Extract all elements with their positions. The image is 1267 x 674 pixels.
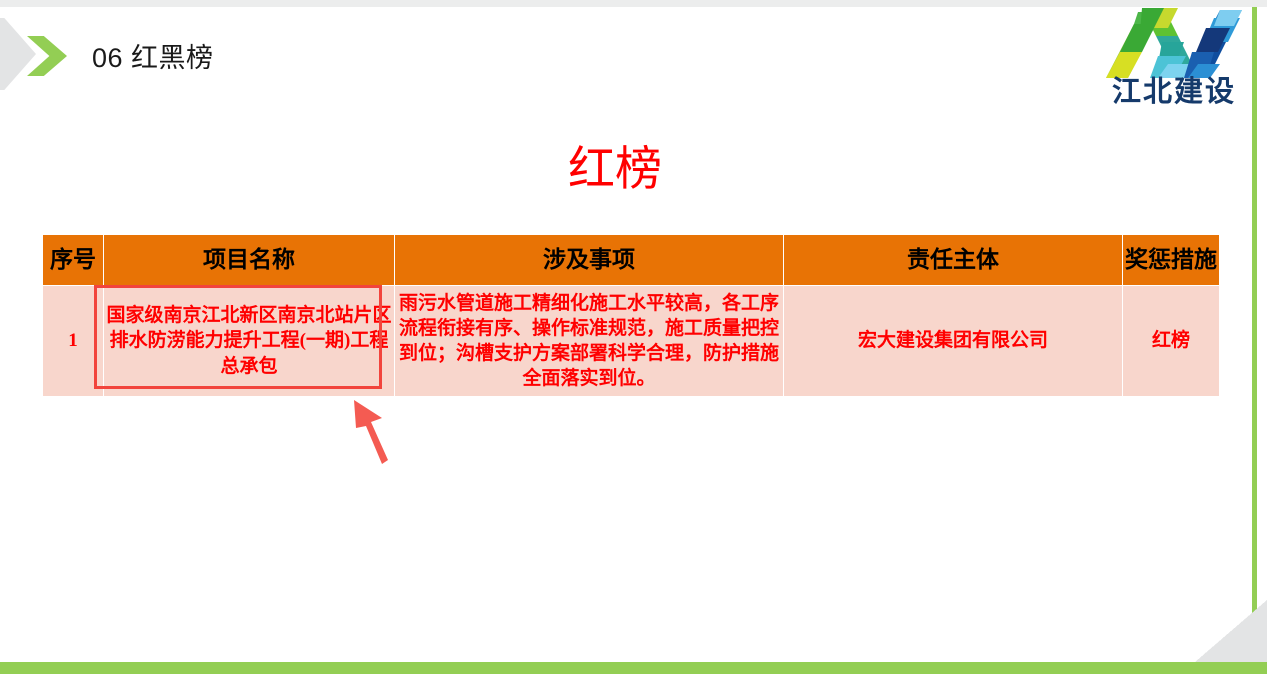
section-title: 06 红黑榜 [92, 36, 214, 75]
corner-gray-triangle [1195, 600, 1267, 662]
red-arrow-annotation-icon [352, 398, 432, 478]
table-header-row: 序号 项目名称 涉及事项 责任主体 奖惩措施 [43, 235, 1220, 286]
red-board-table: 序号 项目名称 涉及事项 责任主体 奖惩措施 1 国家级南京江北新区南京北站片区… [42, 234, 1220, 397]
column-header-matter: 涉及事项 [395, 235, 784, 286]
column-header-index: 序号 [43, 235, 104, 286]
bottom-green-bar [0, 662, 1267, 674]
chevron-right-gray-icon [0, 18, 36, 90]
logo-n-monogram-icon [1106, 8, 1242, 80]
slide-header: 06 红黑榜 [0, 0, 1267, 128]
cell-responsible-entity: 宏大建设集团有限公司 [784, 286, 1123, 397]
column-header-project-name: 项目名称 [104, 235, 395, 286]
cell-project-name: 国家级南京江北新区南京北站片区排水防涝能力提升工程(一期)工程总承包 [104, 286, 395, 397]
table-row: 1 国家级南京江北新区南京北站片区排水防涝能力提升工程(一期)工程总承包 雨污水… [43, 286, 1220, 397]
cell-matter: 雨污水管道施工精细化施工水平较高，各工序流程衔接有序、操作标准规范，施工质量把控… [395, 286, 784, 397]
logo-wordmark: 江北建设 [1098, 78, 1250, 107]
column-header-responsible-entity: 责任主体 [784, 235, 1123, 286]
company-logo: 江北建设 [1098, 8, 1250, 120]
board-table-wrapper: 序号 项目名称 涉及事项 责任主体 奖惩措施 1 国家级南京江北新区南京北站片区… [42, 234, 1214, 397]
cell-index: 1 [43, 286, 104, 397]
column-header-measure: 奖惩措施 [1123, 235, 1220, 286]
slide-canvas: 06 红黑榜 江北建设 红榜 [0, 0, 1267, 674]
cell-measure: 红榜 [1123, 286, 1220, 397]
page-title: 红榜 [0, 143, 1230, 195]
